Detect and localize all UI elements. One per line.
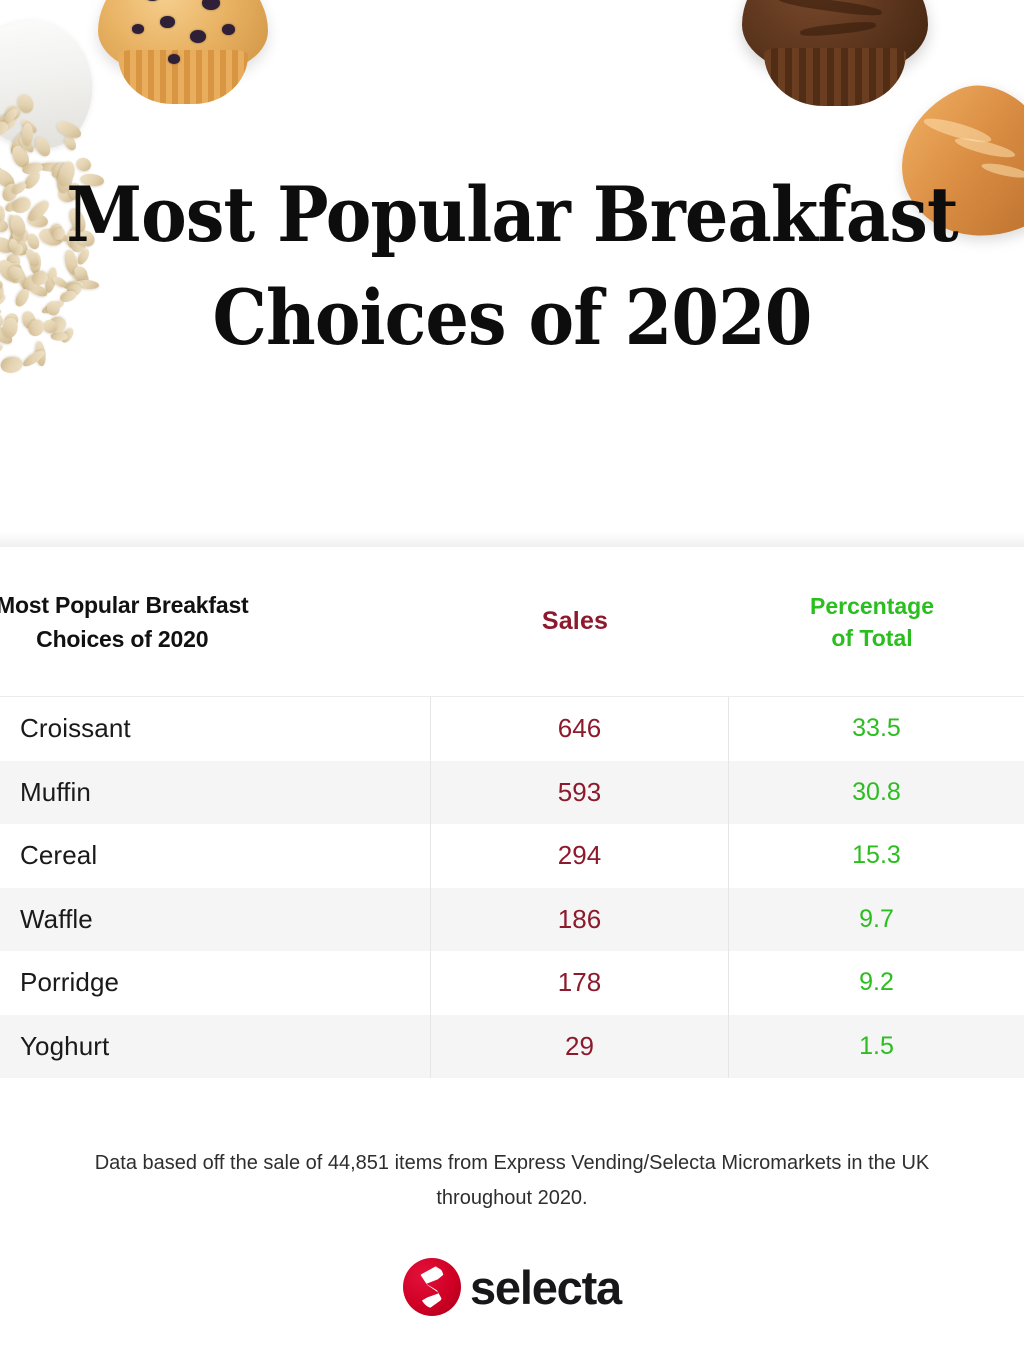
oat-flake (9, 143, 33, 170)
oat-flake (0, 257, 21, 285)
oat-flake (13, 287, 32, 309)
oat-flake (0, 220, 8, 233)
table-row: Yoghurt291.5 (0, 1015, 1024, 1079)
oat-flake (30, 252, 41, 274)
oat-flake (0, 277, 5, 291)
oat-flake (4, 199, 21, 214)
cell-percentage: 30.8 (728, 761, 1024, 825)
oat-flake (7, 130, 32, 159)
oat-flake (0, 119, 11, 138)
cell-percentage: 9.7 (728, 888, 1024, 952)
table-row: Waffle1869.7 (0, 888, 1024, 952)
oat-flake (25, 198, 52, 224)
oat-flake (0, 322, 15, 348)
oat-flake (0, 181, 22, 204)
oat-flake (0, 345, 1, 374)
cell-name: Porridge (0, 951, 430, 1015)
oat-flake (22, 169, 43, 192)
table-header-row: Most Popular Breakfast Choices of 2020 S… (0, 547, 1024, 697)
cell-sales: 646 (430, 697, 728, 761)
column-header-sales: Sales (426, 607, 724, 636)
muffin-case (764, 48, 906, 106)
oat-flake (19, 117, 38, 135)
muffin-top (742, 0, 928, 76)
table-row: Croissant64633.5 (0, 697, 1024, 761)
oat-flake (21, 348, 47, 370)
footnote: Data based off the sale of 44,851 items … (52, 1146, 972, 1216)
oat-flake (0, 343, 4, 359)
oat-flake (31, 269, 50, 287)
table-top-divider (0, 531, 1024, 547)
cell-sales: 294 (430, 824, 728, 888)
cell-name: Croissant (0, 697, 430, 761)
oat-flake (0, 163, 2, 175)
oat-flake (21, 273, 41, 294)
oat-flake (24, 248, 42, 269)
oat-flake (55, 118, 84, 141)
oat-flake (26, 212, 49, 229)
oat-flake (25, 231, 42, 251)
muffin-top (98, 0, 268, 76)
cell-sales: 186 (430, 888, 728, 952)
cell-name: Muffin (0, 761, 430, 825)
oat-flake (0, 234, 15, 256)
oat-flake (10, 180, 28, 197)
oat-flake (7, 213, 20, 238)
oat-flake (17, 134, 36, 154)
oat-flake (0, 250, 1, 269)
selecta-logo: selecta (0, 1258, 1024, 1316)
oat-flake (0, 356, 23, 374)
breakfast-choices-table: Most Popular Breakfast Choices of 2020 S… (0, 531, 1024, 1078)
cell-sales: 178 (430, 951, 728, 1015)
oat-flake (0, 165, 18, 192)
oat-flake (21, 161, 44, 176)
oat-flake (34, 341, 47, 367)
oat-flake (21, 123, 32, 146)
oat-flake (32, 134, 53, 159)
table-row: Porridge1789.2 (0, 951, 1024, 1015)
cell-sales: 593 (430, 761, 728, 825)
oat-flake (1, 106, 20, 126)
oat-flake (13, 264, 30, 291)
logo-disc (403, 1258, 461, 1316)
oat-flake (7, 263, 21, 272)
oat-flake (25, 317, 47, 340)
oat-flake (0, 207, 2, 226)
oat-flake (21, 309, 38, 330)
table-row: Cereal29415.3 (0, 824, 1024, 888)
oat-flake (8, 213, 28, 238)
column-header-name: Most Popular Breakfast Choices of 2020 (0, 588, 426, 656)
oat-flake (3, 103, 23, 123)
oat-flake (0, 311, 2, 336)
muffin-case (118, 50, 248, 104)
oat-flake (9, 239, 19, 253)
oat-flake (4, 252, 23, 271)
oat-flake (10, 227, 27, 244)
oat-flake (0, 158, 1, 179)
cell-percentage: 9.2 (728, 951, 1024, 1015)
oat-flake (62, 134, 78, 152)
cell-percentage: 33.5 (728, 697, 1024, 761)
blueberry-muffin-photo (98, 0, 268, 128)
cell-name: Waffle (0, 888, 430, 952)
oat-flake (7, 265, 24, 281)
cell-name: Cereal (0, 824, 430, 888)
table-row: Muffin59330.8 (0, 761, 1024, 825)
oat-flake (1, 317, 18, 338)
oat-flake (8, 267, 24, 284)
logo-wordmark: selecta (470, 1264, 621, 1311)
oat-flake (5, 226, 31, 251)
chocolate-muffin-photo (742, 0, 928, 138)
oat-flake (25, 281, 49, 300)
oat-flake (0, 205, 7, 231)
page-title: Most Popular Breakfast Choices of 2020 (51, 163, 973, 369)
oat-flake (0, 111, 19, 136)
infographic-page: Most Popular Breakfast Choices of 2020 M… (0, 0, 1024, 1365)
oat-flake (10, 262, 22, 279)
cell-percentage: 1.5 (728, 1015, 1024, 1079)
selecta-mark-icon (403, 1258, 461, 1316)
oat-flake (0, 292, 8, 311)
oat-flake (0, 297, 2, 317)
oat-flake (9, 241, 26, 258)
cell-sales: 29 (430, 1015, 728, 1079)
oat-flake (15, 93, 36, 116)
cell-percentage: 15.3 (728, 824, 1024, 888)
column-header-percentage: Percentage of Total (724, 590, 1020, 654)
oat-flake (10, 195, 33, 216)
table-body: Croissant64633.5Muffin59330.8Cereal29415… (0, 697, 1024, 1078)
oat-flake (1, 310, 20, 329)
cell-name: Yoghurt (0, 1015, 430, 1079)
oat-flake (6, 234, 31, 259)
spoon-photo (0, 0, 122, 172)
oat-flake (0, 282, 4, 303)
oat-flake (0, 312, 5, 331)
